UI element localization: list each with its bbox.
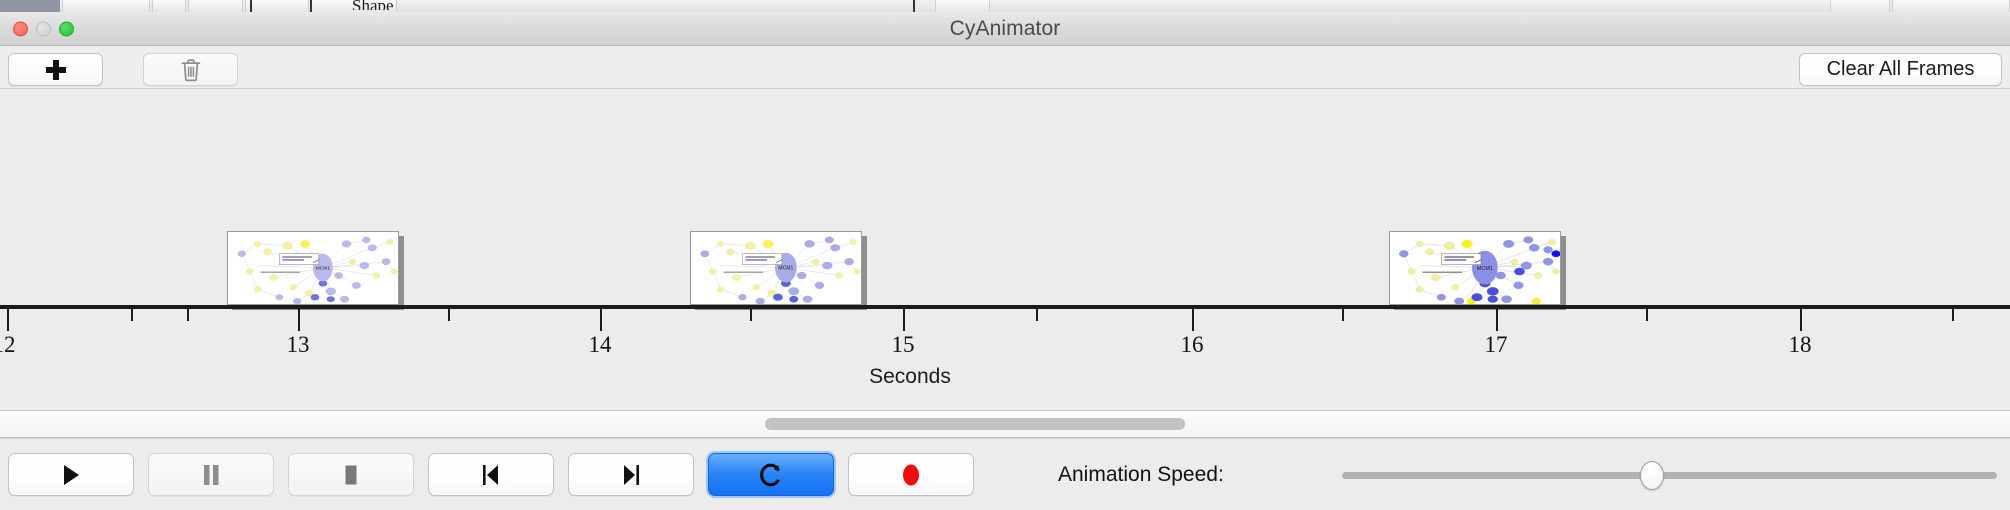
axis-tick — [1496, 309, 1498, 331]
timeline-panel[interactable]: MCM1 — [0, 89, 2010, 411]
add-frame-button[interactable] — [8, 53, 103, 86]
axis-tick-label: 16 — [1181, 332, 1204, 358]
axis-tick-label: 15 — [892, 332, 915, 358]
frame-toolbar: Clear All Frames — [0, 46, 2010, 89]
window-title: CyAnimator — [0, 17, 2010, 41]
axis-tick — [1646, 309, 1648, 321]
background-window-label: Shape — [352, 0, 394, 10]
axis-tick — [1036, 309, 1038, 321]
stop-button[interactable] — [288, 453, 414, 496]
background-window-segment — [935, 0, 990, 12]
playback-control-bar: Animation Speed: — [0, 438, 2010, 510]
svg-text:MCM1: MCM1 — [778, 266, 793, 272]
axis-tick-label: 14 — [589, 332, 612, 358]
background-window-tick — [250, 0, 252, 12]
axis-tick-label: 18 — [1789, 332, 1812, 358]
timeline-horizontal-scrollbar[interactable] — [0, 411, 2010, 438]
axis-tick-label: 13 — [287, 332, 310, 358]
scrollbar-thumb[interactable] — [765, 418, 1185, 430]
clear-all-frames-button[interactable]: Clear All Frames — [1799, 53, 2002, 86]
stop-icon — [340, 463, 362, 487]
next-frame-button[interactable] — [568, 453, 694, 496]
loop-button[interactable] — [708, 453, 834, 496]
background-window-tick — [913, 0, 915, 12]
svg-text:MCM1: MCM1 — [316, 266, 331, 272]
axis-tick — [7, 309, 9, 331]
background-window-segment — [188, 0, 243, 12]
play-icon — [60, 463, 82, 487]
loop-icon — [759, 462, 783, 488]
skip-back-icon — [479, 463, 503, 487]
axis-tick — [903, 309, 905, 331]
clear-all-frames-label: Clear All Frames — [1827, 58, 1975, 81]
timeline-track[interactable]: MCM1 — [0, 89, 2010, 411]
animation-speed-label: Animation Speed: — [1058, 463, 1224, 487]
network-graph-preview: MCM1 — [228, 232, 398, 305]
axis-tick — [600, 309, 602, 331]
network-graph-preview: MCM1 — [1390, 232, 1560, 305]
timeline-axis — [0, 305, 2010, 309]
slider-track[interactable] — [1342, 472, 1997, 479]
play-button[interactable] — [8, 453, 134, 496]
animation-speed-slider[interactable] — [1342, 464, 1997, 486]
axis-tick — [1342, 309, 1344, 321]
axis-tick — [187, 309, 189, 321]
svg-text:MCM1: MCM1 — [1477, 266, 1493, 272]
pause-button[interactable] — [148, 453, 274, 496]
background-window-strip: Shape — [0, 0, 2010, 12]
record-button[interactable] — [848, 453, 974, 496]
background-window-segment — [62, 0, 150, 12]
keyframe-thumbnail[interactable]: MCM1 — [227, 231, 399, 305]
cyanimator-window: Shape CyAnimator Clear All Frames — [0, 0, 2010, 510]
axis-tick — [1192, 309, 1194, 331]
axis-tick — [1952, 309, 1954, 321]
axis-tick — [131, 309, 133, 321]
axis-tick-label: 17 — [1485, 332, 1508, 358]
background-window-segment — [1830, 0, 1890, 12]
axis-tick-label: 12 — [0, 332, 16, 358]
keyframe-thumbnail[interactable]: MCM1 — [690, 231, 862, 305]
background-window-segment — [245, 0, 309, 12]
background-window-tick — [310, 0, 312, 12]
axis-tick — [750, 309, 752, 321]
plus-icon — [46, 60, 66, 80]
pause-icon — [200, 463, 222, 487]
slider-thumb[interactable] — [1640, 461, 1664, 490]
delete-frame-button[interactable] — [143, 53, 238, 86]
record-icon — [899, 462, 923, 488]
trash-icon — [180, 58, 202, 82]
background-window-segment — [1892, 0, 2010, 12]
network-graph-preview: MCM1 — [691, 232, 861, 305]
axis-tick — [298, 309, 300, 331]
keyframe-thumbnail[interactable]: MCM1 — [1389, 231, 1561, 305]
title-bar: CyAnimator — [0, 12, 2010, 46]
previous-frame-button[interactable] — [428, 453, 554, 496]
axis-title: Seconds — [0, 365, 2010, 389]
skip-forward-icon — [619, 463, 643, 487]
background-window-segment — [152, 0, 186, 12]
background-window-dark-segment — [0, 0, 60, 12]
axis-tick — [448, 309, 450, 321]
axis-tick — [1800, 309, 1802, 331]
axis-title-text: Seconds — [869, 365, 951, 388]
